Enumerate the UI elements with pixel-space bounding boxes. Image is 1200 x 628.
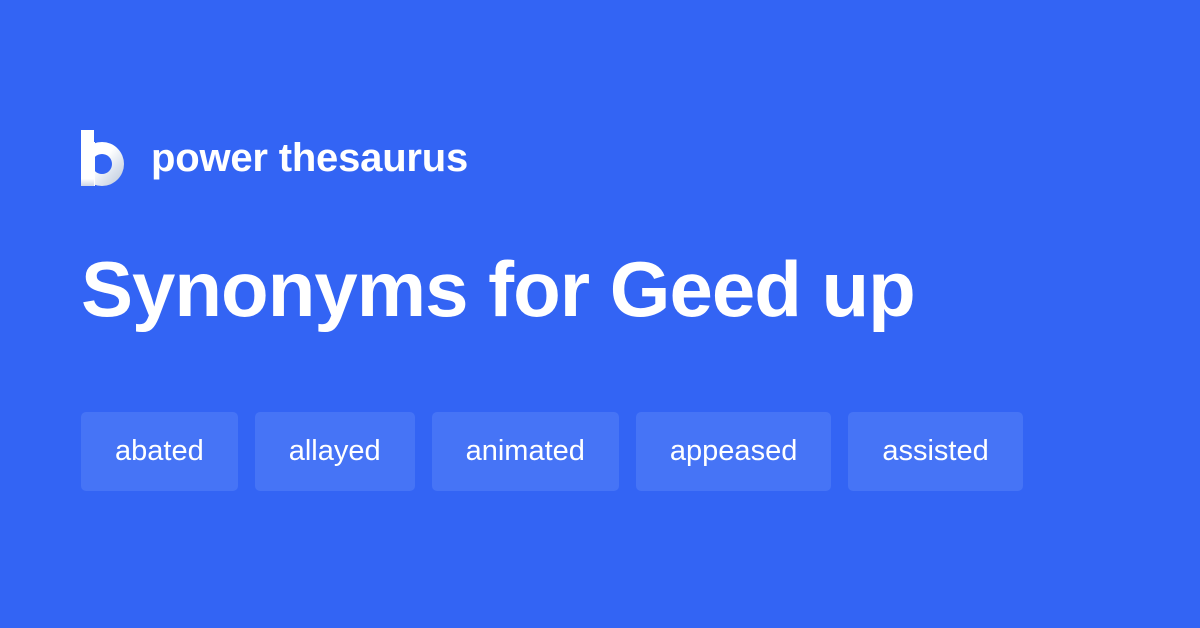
power-thesaurus-b-logo-icon xyxy=(81,130,129,186)
page-title: Synonyms for Geed up xyxy=(81,248,915,331)
brand-lockup[interactable]: power thesaurus xyxy=(81,128,468,188)
synonym-chip[interactable]: assisted xyxy=(848,412,1022,491)
brand-name: power thesaurus xyxy=(151,138,468,178)
share-card-canvas: power thesaurus Synonyms for Geed up aba… xyxy=(0,0,1200,628)
synonym-chip[interactable]: allayed xyxy=(255,412,415,491)
synonym-chip-list: abated allayed animated appeased assiste… xyxy=(81,412,1023,491)
synonym-chip[interactable]: animated xyxy=(432,412,619,491)
synonym-chip[interactable]: abated xyxy=(81,412,238,491)
synonym-chip[interactable]: appeased xyxy=(636,412,831,491)
